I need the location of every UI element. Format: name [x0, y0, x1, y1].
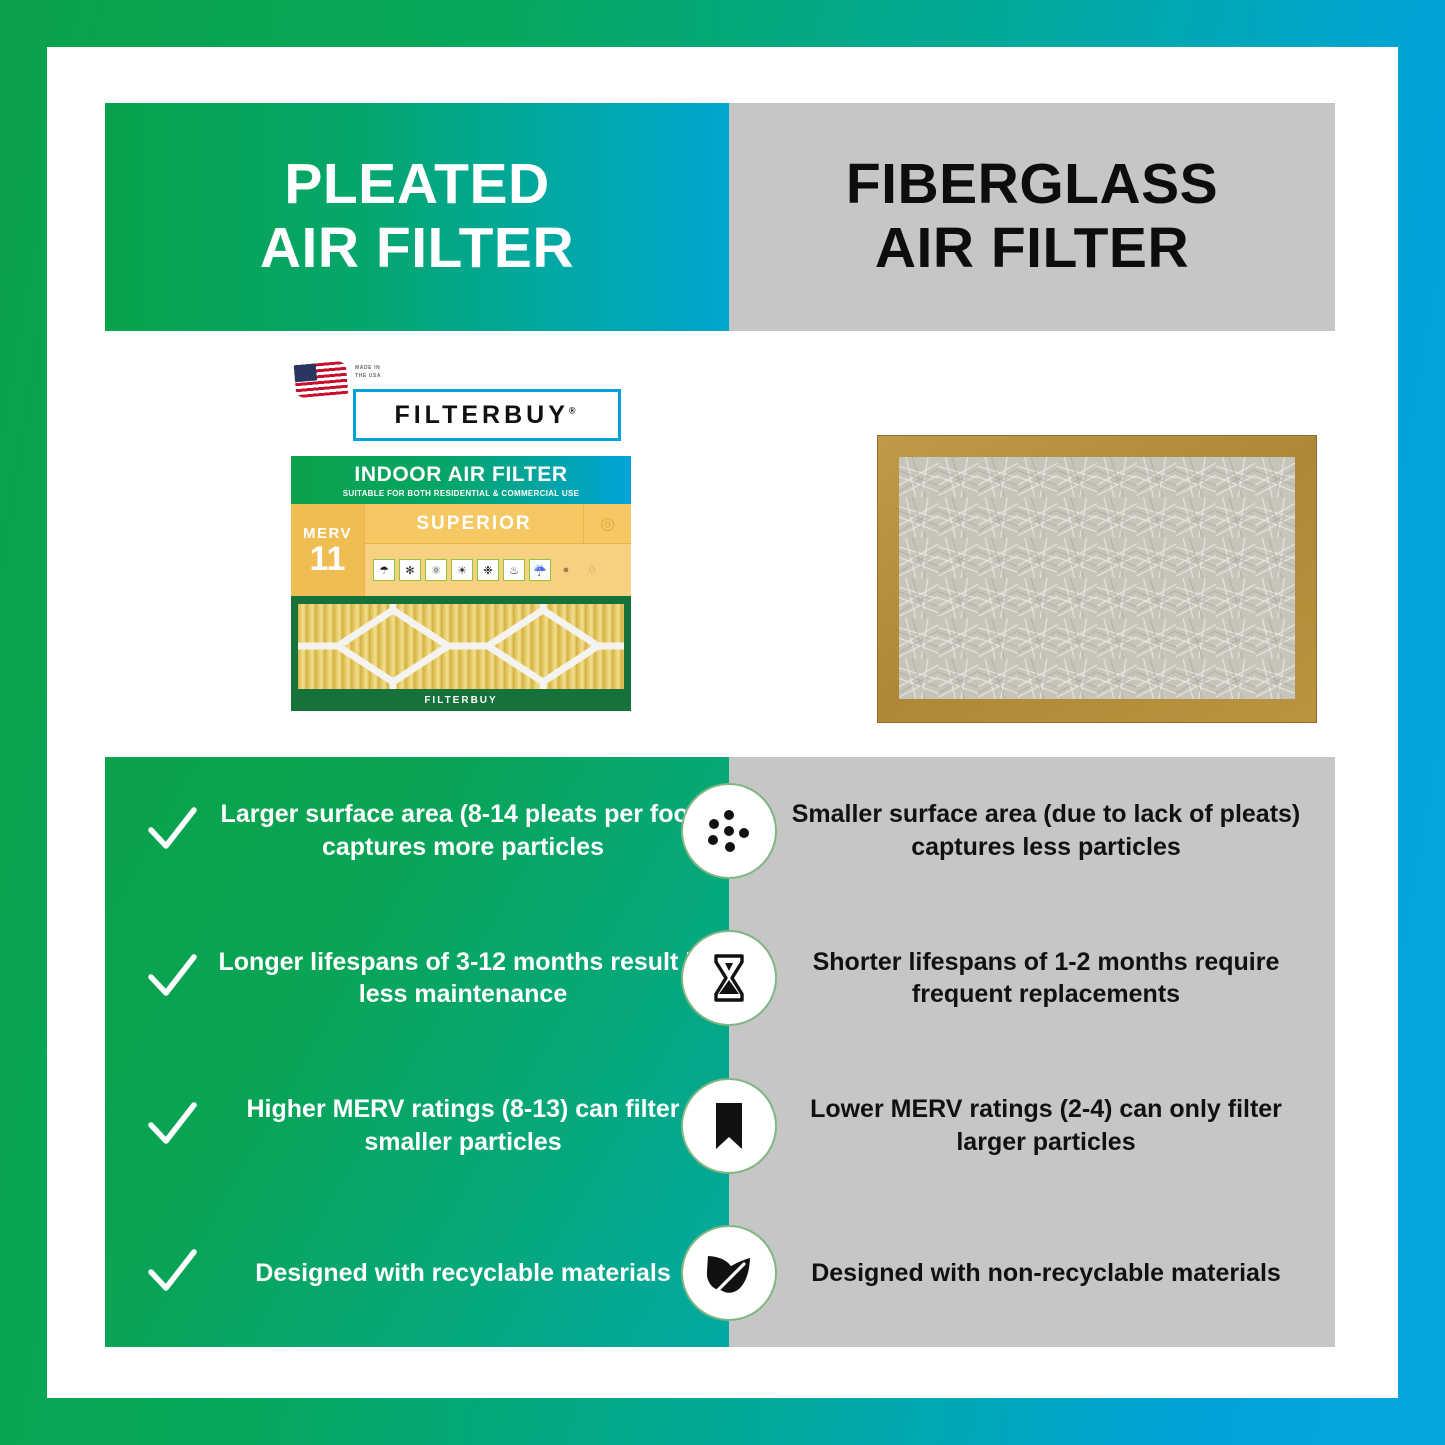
comparison-section: Larger surface area (8-14 pleats per foo… [105, 757, 1335, 1347]
row-left-cell: Higher MERV ratings (8-13) can filter sm… [105, 1093, 729, 1158]
particles-icon [681, 783, 777, 879]
usa-flag-icon [294, 361, 349, 398]
check-icon [141, 1242, 203, 1304]
row-left-text: Larger surface area (8-14 pleats per foo… [203, 798, 723, 863]
brand-logo-text: FILTERBUY® [394, 401, 579, 430]
comparison-row: Longer lifespans of 3-12 months result i… [105, 905, 1335, 1053]
package-footer-brand: FILTERBUY [291, 695, 631, 706]
comparison-row: Larger surface area (8-14 pleats per foo… [105, 757, 1335, 905]
package-spec-area: MERV 11 SUPERIOR ◎ ☂ ✻ ⚛ ☀ ❉ ♨ ☔ ● ♢ [291, 504, 631, 596]
bookmark-icon [681, 1078, 777, 1174]
package-top: MADE IN THE USA FILTERBUY® [291, 359, 631, 456]
fiberglass-media [899, 457, 1295, 699]
insect-icon: ✻ [399, 559, 421, 581]
certification-seal-icon: ◎ [583, 504, 631, 544]
mold-icon: ☀ [451, 559, 473, 581]
brand-logo-frame: FILTERBUY® [353, 389, 621, 441]
comparison-row: Higher MERV ratings (8-13) can filter sm… [105, 1052, 1335, 1200]
row-right-text: Lower MERV ratings (2-4) can only filter… [729, 1093, 1335, 1158]
bacteria-icon: ⚛ [425, 559, 447, 581]
merv-badge: MERV 11 [291, 504, 365, 596]
check-icon [141, 947, 203, 1009]
row-left-cell: Designed with recyclable materials [105, 1242, 729, 1304]
made-in-usa-label: MADE IN THE USA [355, 365, 381, 380]
row-icon-slot [681, 1078, 777, 1174]
row-icon-slot [681, 783, 777, 879]
fiberglass-title: FIBERGLASS AIR FILTER [846, 153, 1218, 281]
row-left-text: Designed with recyclable materials [203, 1257, 723, 1290]
check-icon [141, 1095, 203, 1157]
product-images-row: MADE IN THE USA FILTERBUY® INDOOR AIR FI… [105, 347, 1335, 751]
pleated-media-illustration: FILTERBUY [291, 596, 631, 711]
tier-label: SUPERIOR [365, 504, 583, 544]
row-left-text: Higher MERV ratings (8-13) can filter sm… [203, 1093, 723, 1158]
merv-value: 11 [310, 542, 346, 576]
comparison-row: Designed with recyclable materials [105, 1200, 1335, 1348]
header-pleated: PLEATED AIR FILTER [105, 103, 729, 331]
dust-icon: ☂ [373, 559, 395, 581]
merv-label: MERV [303, 525, 352, 542]
check-icon [141, 800, 203, 862]
header-band: PLEATED AIR FILTER FIBERGLASS AIR FILTER [105, 103, 1335, 331]
comparison-rows: Larger surface area (8-14 pleats per foo… [105, 757, 1335, 1347]
package-band-subtitle: SUITABLE FOR BOTH RESIDENTIAL & COMMERCI… [343, 489, 579, 498]
fiberglass-product-image [877, 435, 1317, 723]
row-left-text: Longer lifespans of 3-12 months result i… [203, 946, 723, 1011]
pleated-title: PLEATED AIR FILTER [260, 153, 574, 281]
leaf-icon [681, 1225, 777, 1321]
infographic-page: PLEATED AIR FILTER FIBERGLASS AIR FILTER… [0, 0, 1445, 1445]
pollen-icon: ❉ [477, 559, 499, 581]
smoke-icon: ☔ [529, 559, 551, 581]
row-right-text: Shorter lifespans of 1-2 months require … [729, 946, 1335, 1011]
row-right-text: Smaller surface area (due to lack of ple… [729, 798, 1335, 863]
row-left-cell: Larger surface area (8-14 pleats per foo… [105, 798, 729, 863]
header-fiberglass: FIBERGLASS AIR FILTER [729, 103, 1335, 331]
filterbuy-product-image: MADE IN THE USA FILTERBUY® INDOOR AIR FI… [291, 359, 631, 711]
odor-icon-faded: ♢ [581, 559, 603, 581]
row-right-text: Designed with non-recyclable materials [729, 1257, 1335, 1290]
row-icon-slot [681, 930, 777, 1026]
gold-pleats [298, 604, 624, 689]
pet-dander-icon: ♨ [503, 559, 525, 581]
feature-icon-strip: ☂ ✻ ⚛ ☀ ❉ ♨ ☔ ● ♢ [365, 544, 631, 596]
white-card: PLEATED AIR FILTER FIBERGLASS AIR FILTER… [47, 47, 1398, 1398]
row-left-cell: Longer lifespans of 3-12 months result i… [105, 946, 729, 1011]
virus-icon-faded: ● [555, 559, 577, 581]
support-grid [298, 604, 624, 689]
package-band-title: INDOOR AIR FILTER [354, 463, 567, 487]
package-band: INDOOR AIR FILTER SUITABLE FOR BOTH RESI… [291, 456, 631, 504]
hourglass-icon [681, 930, 777, 1026]
row-icon-slot [681, 1225, 777, 1321]
